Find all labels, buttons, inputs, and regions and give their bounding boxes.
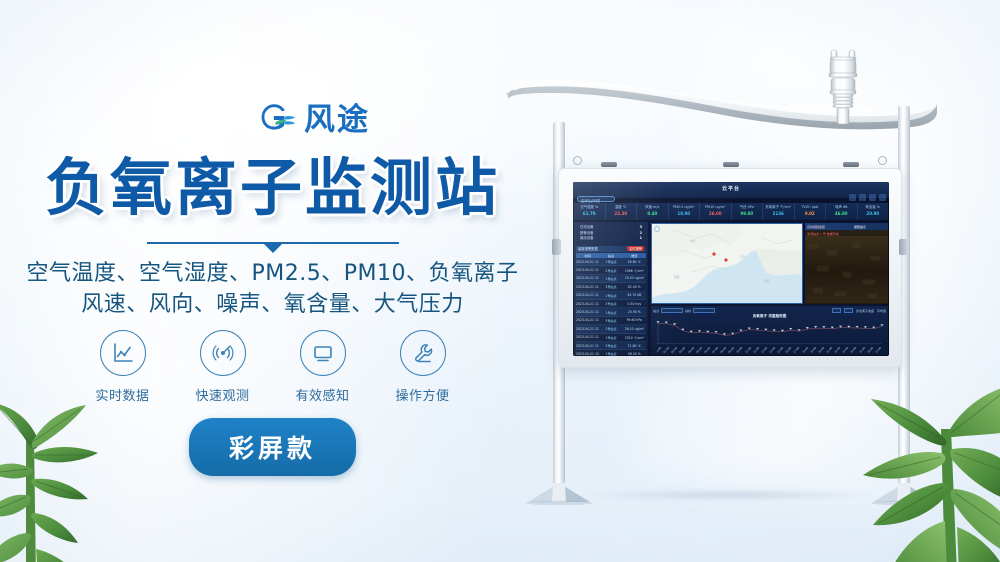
chart-control-label-2: 指标 — [685, 308, 691, 313]
sensor-stat-cell: 噪声 dB46.80 — [826, 203, 858, 220]
table-cell: 20.90 % — [623, 310, 646, 314]
sensor-stat-value: 26.00 — [700, 210, 731, 217]
device-summary-value: 1 — [640, 236, 642, 242]
camera-feed-panel[interactable]: 实时视频监控 报警提示 监测站点 1 号 数据异常 — [805, 223, 888, 304]
station-map[interactable]: 中国 东海 南海 西藏 — [651, 223, 803, 304]
sensor-stat-cell: 风速 m/s0.40 — [637, 203, 669, 220]
chart-x-label: 23:00 — [842, 347, 849, 354]
layout-icon[interactable] — [869, 194, 876, 201]
svg-text:西藏: 西藏 — [674, 275, 680, 279]
table-cell: 18.20 ug/m³ — [623, 276, 646, 280]
table-cell: 3号站点 — [599, 343, 622, 348]
parameter-list: 空气温度、空气湿度、PM2.5、PM10、负氧离子 风速、风向、噪声、氧含量、大… — [0, 258, 545, 320]
chart-legend: 负氧离子浓度 平均值 — [832, 308, 886, 313]
sensor-stat-cell: 负氧离子 个/cm³2136 — [763, 203, 795, 220]
chart-tool-1[interactable] — [832, 308, 841, 313]
curved-canopy — [500, 66, 940, 146]
station-selector[interactable]: 监测站点列表 — [577, 196, 615, 202]
camera-header: 实时视频监控 报警提示 — [805, 223, 888, 230]
dashboard-toolbar — [849, 194, 886, 201]
feature-label: 有效感知 — [290, 385, 356, 404]
sensor-stat-value: 61.70 — [574, 210, 605, 217]
chart-x-label: 12:00 — [753, 347, 760, 354]
chart-x-label: 07:00 — [712, 347, 719, 354]
table-cell: 1号站点 — [599, 276, 622, 281]
ultrasonic-weather-sensor — [822, 48, 864, 128]
chart-station-select[interactable] — [661, 308, 683, 313]
chart-x-label: 27:00 — [875, 347, 882, 354]
chart-x-label: 21:00 — [826, 347, 833, 354]
chart-x-label: 02:00 — [671, 347, 678, 354]
mount-bracket-1 — [601, 162, 617, 167]
table-cell: 0.50 m/s — [623, 302, 646, 306]
sensor-stat-value: 18.00 — [669, 210, 700, 217]
camera-alert-text: 监测站点 1 号 数据异常 — [807, 232, 839, 236]
feature-icon-circle — [100, 330, 146, 376]
promo-banner: 风途 负氧离子监测站 空气温度、空气湿度、PM2.5、PM10、负氧离子 风速、… — [0, 0, 1000, 562]
table-cell: 2023-04-21 11:10:12 — [576, 318, 599, 322]
table-cell: 3号站点 — [599, 284, 622, 289]
table-cell: 21.80 ℃ — [623, 344, 646, 348]
chart-x-label: 10:00 — [736, 347, 743, 354]
location-pin-icon[interactable] — [654, 226, 660, 232]
chart-x-label: 17:00 — [793, 347, 800, 354]
monitor-screen-icon — [311, 341, 335, 365]
radar-sensor-icon — [211, 341, 235, 365]
device-summary-row: 离线设备1 — [580, 236, 642, 242]
sensor-stat-value: 2136 — [763, 210, 794, 217]
svg-text:东海: 东海 — [740, 255, 746, 259]
chart-x-label: 14:00 — [769, 347, 776, 354]
chart-metric-select[interactable] — [693, 308, 715, 313]
sensor-stat-value: 46.80 — [826, 210, 857, 217]
marketing-copy-column: 风途 负氧离子监测站 空气温度、空气湿度、PM2.5、PM10、负氧离子 风速、… — [0, 0, 545, 562]
table-cell: 2023-04-21 11:04:33 — [576, 335, 599, 339]
mount-hook-left — [573, 156, 582, 165]
alarm-table-column-header: 时间 — [576, 253, 599, 258]
alarm-table-column-header: 站点 — [599, 253, 622, 258]
chart-x-label: 08:00 — [720, 347, 727, 354]
color-screen-model-button[interactable]: 彩屏款 — [189, 418, 356, 476]
table-cell: 3号站点 — [599, 318, 622, 323]
side-lug-right — [899, 239, 908, 255]
camera-video-noise — [805, 236, 888, 303]
table-cell: 1号站点 — [599, 259, 622, 264]
chart-x-label: 16:00 — [785, 347, 792, 354]
map-graphic: 中国 东海 南海 西藏 — [652, 224, 803, 304]
table-row[interactable]: 2023-04-21 11:19:051号站点45.70 dB — [576, 292, 646, 300]
base-plate-right — [871, 483, 937, 505]
cloud-platform-dashboard: 云平台 监测站点列表 空气湿度 %61.70温度 ℃22.30风速 m/s0.4… — [573, 182, 889, 356]
table-row[interactable]: 2023-04-21 10:58:021号站点58.30 % — [576, 350, 646, 356]
chart-x-label: 15:00 — [777, 347, 784, 354]
parameter-line-1: 空气温度、空气湿度、PM2.5、PM10、负氧离子 — [27, 261, 519, 286]
feature-item-realtime-data[interactable]: 实时数据 — [90, 330, 156, 404]
table-cell: 28.60 ℃ — [623, 260, 646, 264]
table-cell: 1号站点 — [599, 335, 622, 340]
table-row[interactable]: 2023-04-21 11:04:331号站点2310 个/cm³ — [576, 334, 646, 342]
chart-x-label: 00:00 — [657, 347, 662, 354]
display-cabinet: 云平台 监测站点列表 空气湿度 %61.70温度 ℃22.30风速 m/s0.4… — [558, 168, 902, 368]
brand-name: 风途 — [304, 105, 370, 136]
feature-label: 快速观测 — [190, 385, 256, 404]
table-cell: 1号站点 — [599, 310, 622, 315]
chart-x-label: 22:00 — [834, 347, 841, 354]
chart-x-label: 04:00 — [687, 347, 694, 354]
alarm-table-header: 最新报警数据 实时报警 — [576, 246, 646, 252]
chart-tool-2[interactable] — [844, 308, 853, 313]
table-cell: 2023-04-21 11:30:22 — [576, 260, 599, 264]
chart-x-label: 20:00 — [818, 347, 825, 354]
feature-label: 实时数据 — [90, 385, 156, 404]
chart-x-label: 11:00 — [744, 347, 751, 354]
table-row[interactable]: 2023-04-21 11:13:271号站点20.90 % — [576, 308, 646, 316]
table-cell: 2023-04-21 11:01:19 — [576, 344, 599, 348]
table-cell: 2023-04-21 11:22:31 — [576, 285, 599, 289]
sensor-stat-value: 0.02 — [795, 210, 826, 217]
mount-bracket-2 — [723, 162, 739, 167]
table-cell: 62.40 % — [623, 285, 646, 289]
dashboard-title: 云平台 — [573, 185, 889, 192]
chart-plot-area — [655, 320, 885, 346]
feature-label: 操作方便 — [390, 385, 456, 404]
station-selector-label: 监测站点列表 — [581, 198, 600, 203]
sensor-stat-cell: PM10 ug/m³26.00 — [700, 203, 732, 220]
table-cell: 2023-04-21 11:28:10 — [576, 268, 599, 272]
table-cell: 2号站点 — [599, 268, 622, 273]
alarm-table-body: 2023-04-21 11:30:221号站点28.60 ℃2023-04-21… — [576, 258, 646, 356]
settings-icon[interactable] — [879, 194, 886, 201]
mount-bracket-3 — [843, 162, 859, 167]
chart-control-label-1: 站点 — [653, 308, 659, 313]
sensor-stat-row: 空气湿度 %61.70温度 ℃22.30风速 m/s0.40PM2.5 ug/m… — [574, 203, 888, 220]
chart-x-label: 05:00 — [696, 347, 703, 354]
chart-x-label: 09:00 — [728, 347, 735, 354]
monitoring-station-kiosk: 云平台 监测站点列表 空气湿度 %61.70温度 ℃22.30风速 m/s0.4… — [500, 40, 960, 530]
camera-alarm-label: 报警提示 — [854, 225, 866, 229]
sensor-stat-value: 0.40 — [637, 210, 668, 217]
svg-text:南海: 南海 — [764, 279, 770, 283]
device-summary: 在线设备3报警设备2离线设备1 — [574, 222, 648, 244]
sensor-stat-cell: 空气湿度 %61.70 — [574, 203, 606, 220]
chart-x-label: 13:00 — [761, 347, 768, 354]
sensor-stat-value: 22.30 — [606, 210, 637, 217]
feature-icon-circle — [300, 330, 346, 376]
table-row[interactable]: 2023-04-21 11:01:193号站点21.80 ℃ — [576, 342, 646, 350]
chart-legend-item-1: 负氧离子浓度 — [856, 309, 874, 313]
table-cell: 99.60 hPa — [623, 318, 646, 322]
camera-title: 实时视频监控 — [807, 225, 825, 229]
wrench-icon — [411, 341, 435, 365]
table-row[interactable]: 2023-04-21 11:16:442号站点0.50 m/s — [576, 300, 646, 308]
table-row[interactable]: 2023-04-21 11:10:123号站点99.60 hPa — [576, 317, 646, 325]
dashboard-left-panel: 在线设备3报警设备2离线设备1 最新报警数据 实时报警 时间站点数值 2023-… — [574, 222, 648, 355]
chart-x-axis-labels: 00:0001:0002:0003:0004:0005:0006:0007:00… — [657, 346, 885, 354]
table-cell: 1号站点 — [599, 351, 622, 356]
table-row[interactable]: 2023-04-21 11:28:102号站点1986 个/cm³ — [576, 266, 646, 274]
chart-x-label: 18:00 — [801, 347, 808, 354]
table-cell: 1986 个/cm³ — [623, 268, 646, 273]
chart-x-label: 03:00 — [679, 347, 686, 354]
table-row[interactable]: 2023-04-21 11:07:502号站点26.10 ug/m³ — [576, 325, 646, 333]
mount-hook-right — [878, 156, 887, 165]
table-cell: 2023-04-21 11:19:05 — [576, 293, 599, 297]
page-title: 负氧离子监测站 — [0, 155, 545, 222]
table-cell: 2310 个/cm³ — [623, 335, 646, 340]
title-divider — [0, 242, 545, 253]
chart-x-label: 01:00 — [663, 347, 670, 354]
chart-x-label: 19:00 — [810, 347, 817, 354]
chart-title: 负氧离子 浓度趋势图 — [651, 314, 888, 319]
base-plate-left — [526, 483, 592, 505]
table-cell: 2023-04-21 11:16:44 — [576, 302, 599, 306]
sensor-stat-cell: 氧含量 %20.90 — [858, 203, 889, 220]
trend-chart-panel: 站点 指标 负氧离子浓度 平均值 负氧离子 浓度趋势图 — [651, 306, 888, 355]
trend-line-chart — [655, 320, 885, 346]
sensor-stat-cell: 气压 hPa99.80 — [732, 203, 764, 220]
chart-x-label: 25:00 — [858, 347, 865, 354]
wind-cloud-leaf-logo-icon — [258, 101, 296, 139]
sensor-stat-value: 20.90 — [858, 210, 889, 217]
table-cell: 2023-04-21 10:58:02 — [576, 352, 599, 356]
feature-icon-circle — [200, 330, 246, 376]
alarm-table-title: 最新报警数据 — [578, 246, 598, 251]
table-row[interactable]: 2023-04-21 11:25:481号站点18.20 ug/m³ — [576, 275, 646, 283]
side-lug-left — [552, 239, 561, 255]
feature-item-effective-sensing[interactable]: 有效感知 — [290, 330, 356, 404]
table-cell: 2号站点 — [599, 301, 622, 306]
table-cell: 2023-04-21 11:25:48 — [576, 276, 599, 280]
feature-icon-circle — [400, 330, 446, 376]
sensor-stat-cell: TVOC ppb0.02 — [795, 203, 827, 220]
sensor-stat-value: 99.80 — [732, 210, 763, 217]
chart-controls: 站点 指标 — [653, 308, 715, 313]
table-cell: 45.70 dB — [623, 293, 646, 297]
chart-x-label: 26:00 — [867, 347, 874, 354]
line-chart-icon — [111, 341, 135, 365]
feature-item-fast-observation[interactable]: 快速观测 — [190, 330, 256, 404]
table-row[interactable]: 2023-04-21 11:22:313号站点62.40 % — [576, 283, 646, 291]
alarm-badge: 实时报警 — [627, 246, 644, 251]
export-icon[interactable] — [849, 194, 856, 201]
parameter-line-2: 风速、风向、噪声、氧含量、大气压力 — [0, 289, 545, 320]
table-cell: 2023-04-21 11:07:50 — [576, 327, 599, 331]
divider-triangle — [264, 244, 282, 253]
table-row[interactable]: 2023-04-21 11:30:221号站点28.60 ℃ — [576, 258, 646, 266]
chart-legend-item-2: 平均值 — [877, 309, 886, 313]
alarm-table-column-header: 数值 — [623, 253, 646, 258]
table-cell: 26.10 ug/m³ — [623, 327, 646, 331]
chart-x-label: 24:00 — [850, 347, 857, 354]
feature-highlights: 实时数据 快速观测 — [0, 330, 545, 404]
sensor-stat-cell: PM2.5 ug/m³18.00 — [669, 203, 701, 220]
cta-row: 彩屏款 — [0, 418, 545, 476]
brand-logo: 风途 — [258, 101, 370, 139]
feature-item-easy-operation[interactable]: 操作方便 — [390, 330, 456, 404]
alarm-table-columns: 时间站点数值 — [576, 253, 646, 259]
chart-x-label: 06:00 — [704, 347, 711, 354]
table-cell: 1号站点 — [599, 293, 622, 298]
sensor-stat-cell: 温度 ℃22.30 — [606, 203, 638, 220]
device-summary-label: 离线设备 — [580, 236, 594, 242]
table-cell: 2023-04-21 11:13:27 — [576, 310, 599, 314]
table-cell: 58.30 % — [623, 352, 646, 356]
table-cell: 2号站点 — [599, 326, 622, 331]
grid-icon[interactable] — [859, 194, 866, 201]
lcd-screen[interactable]: 云平台 监测站点列表 空气湿度 %61.70温度 ℃22.30风速 m/s0.4… — [573, 182, 889, 356]
svg-text:中国: 中国 — [690, 239, 696, 243]
